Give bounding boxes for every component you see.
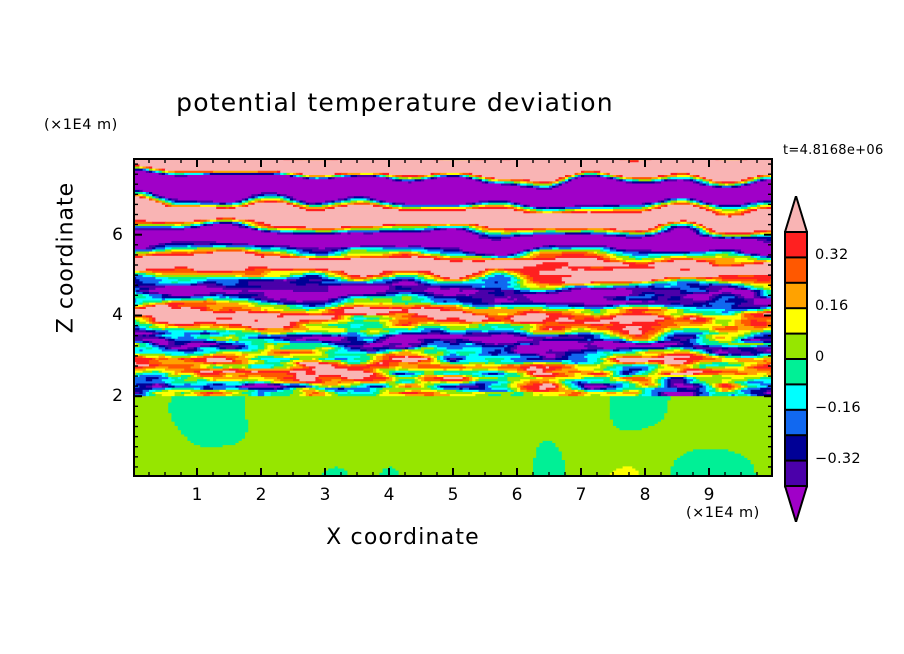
- figure-canvas: potential temperature deviation (×1E4 m)…: [0, 0, 904, 654]
- timestamp-annotation: t=4.8168e+06: [783, 143, 884, 158]
- x-tick-label: 5: [433, 485, 473, 505]
- y-unit-label: (×1E4 m): [44, 117, 118, 133]
- x-unit-label: (×1E4 m): [686, 505, 760, 521]
- x-tick-label: 8: [625, 485, 665, 505]
- contour-plot: [133, 158, 773, 477]
- x-tick-label: 1: [177, 485, 217, 505]
- colorbar-tick-label: −0.32: [815, 451, 861, 467]
- x-tick-label: 7: [561, 485, 601, 505]
- x-tick-label: 9: [689, 485, 729, 505]
- colorbar-tick-label: 0: [815, 349, 825, 365]
- y-tick-label: 2: [93, 386, 123, 406]
- page-title: potential temperature deviation: [0, 88, 790, 117]
- x-tick-label: 2: [241, 485, 281, 505]
- contour-field: [133, 158, 773, 477]
- colorbar-tick-label: −0.16: [815, 400, 861, 416]
- colorbar-tick-label: 0.16: [815, 298, 849, 314]
- x-axis-title: X coordinate: [183, 525, 623, 550]
- x-tick-label: 3: [305, 485, 345, 505]
- x-tick-label: 4: [369, 485, 409, 505]
- y-axis-title: Z coordinate: [54, 168, 79, 348]
- colorbar-swatches: [779, 196, 813, 522]
- colorbar-tick-label: 0.32: [815, 247, 849, 263]
- x-tick-label: 6: [497, 485, 537, 505]
- colorbar: [779, 196, 813, 522]
- y-tick-label: 4: [93, 305, 123, 325]
- y-tick-label: 6: [93, 225, 123, 245]
